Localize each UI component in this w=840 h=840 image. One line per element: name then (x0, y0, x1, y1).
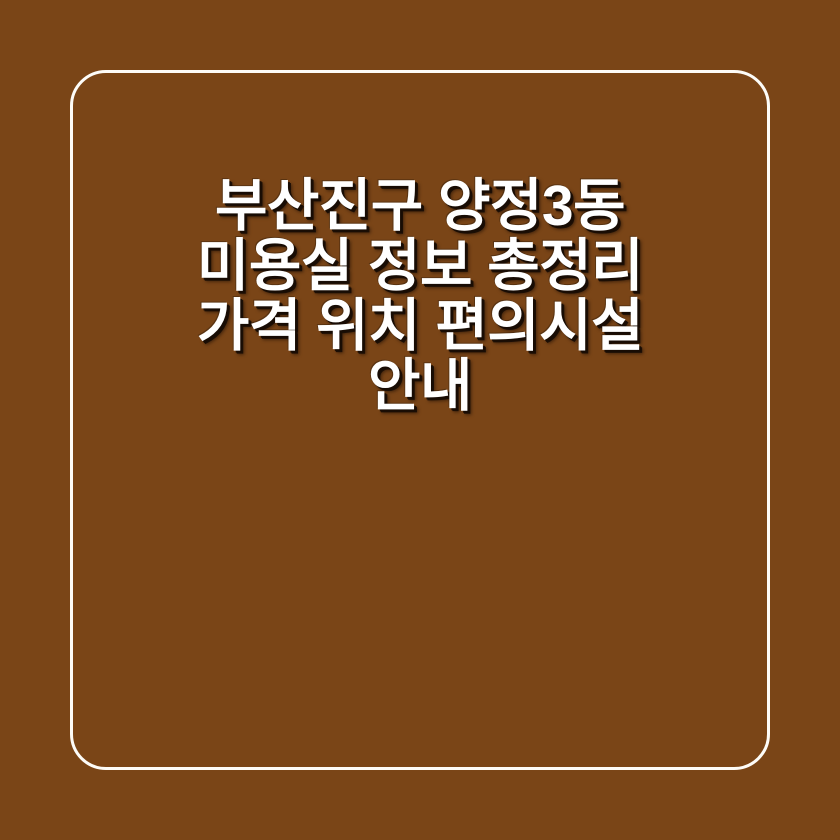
title-block: 부산진구 양정3동 미용실 정보 총정리 가격 위치 편의시설 안내 (0, 0, 840, 840)
title-line-2: 미용실 정보 총정리 (78, 236, 762, 296)
title-line-4: 안내 (78, 356, 762, 416)
thumbnail-card: 부산진구 양정3동 미용실 정보 총정리 가격 위치 편의시설 안내 (0, 0, 840, 840)
title-line-1: 부산진구 양정3동 (78, 176, 762, 236)
title-line-3: 가격 위치 편의시설 (78, 296, 762, 356)
